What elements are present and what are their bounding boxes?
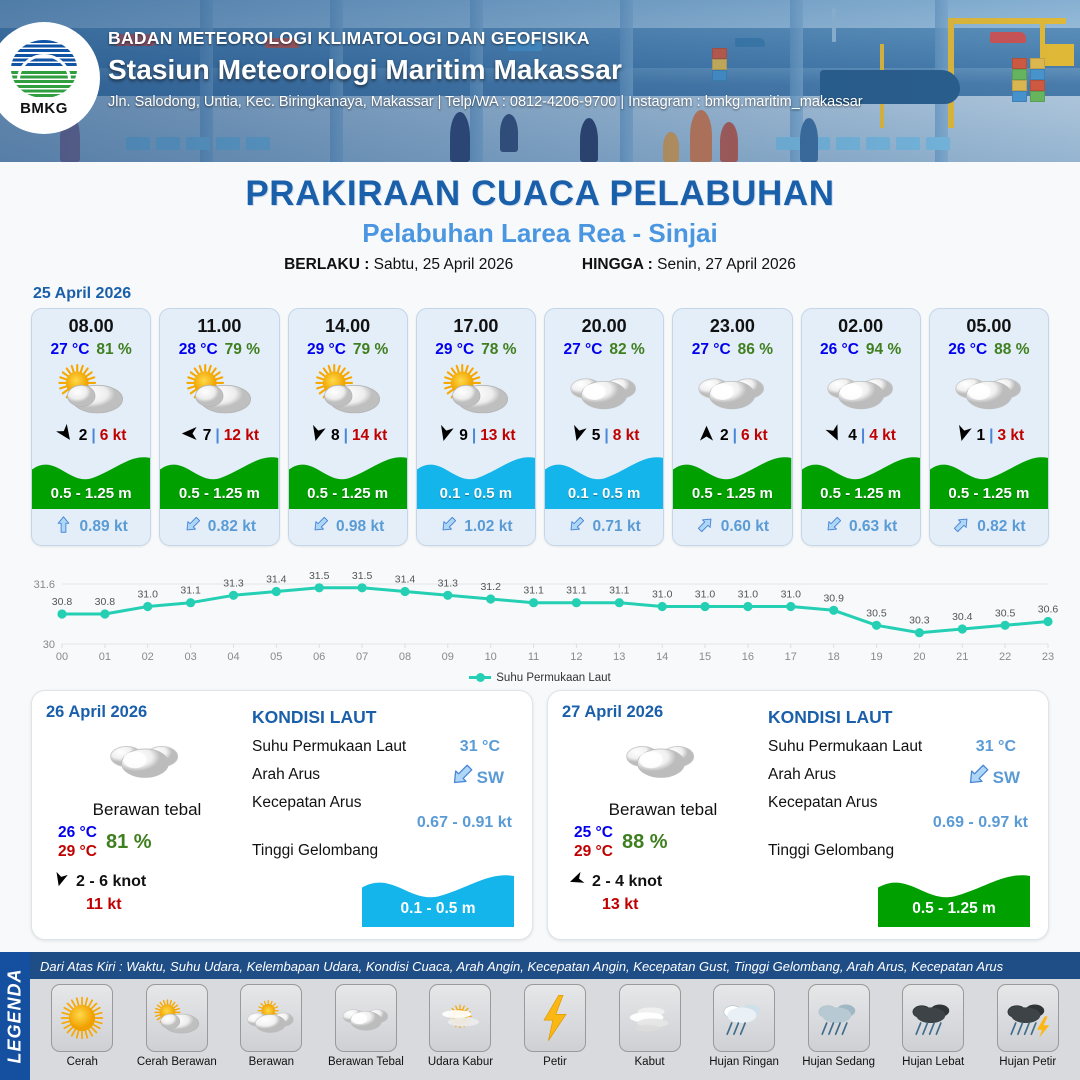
svg-text:03: 03 <box>184 651 196 663</box>
station-name: Stasiun Meteorologi Maritim Makassar <box>108 54 863 86</box>
validity-line: BERLAKU : Sabtu, 25 April 2026 HINGGA : … <box>0 256 1080 274</box>
hourly-card: 02.00 26 °C 94 % 4 | 4 kt 0.5 - 1.25 m 0… <box>801 308 921 546</box>
svg-text:31.5: 31.5 <box>309 570 330 582</box>
current-dir-value: SW <box>993 768 1020 788</box>
svg-text:05: 05 <box>270 651 282 663</box>
hourly-card: 14.00 29 °C 79 % 8 | 14 kt 0.5 - 1.25 m … <box>288 308 408 546</box>
hourly-card: 11.00 28 °C 79 % 7 | 12 kt 0.5 - 1.25 m … <box>159 308 279 546</box>
contact-address: Jln. Salodong, Untia, Kec. Biringkanaya,… <box>108 94 863 110</box>
current-speed: 0.63 kt <box>849 518 897 536</box>
current-speed: 0.89 kt <box>79 518 127 536</box>
legend-bar: LEGENDA Dari Atas Kiri : Waktu, Suhu Uda… <box>0 952 1080 1080</box>
svg-text:08: 08 <box>399 651 411 663</box>
gust-speed: 14 kt <box>352 427 387 445</box>
wind-direction-value: 8 <box>331 427 340 445</box>
wave-height-band: 0.5 - 1.25 m <box>802 451 920 509</box>
svg-text:31.0: 31.0 <box>781 589 802 601</box>
hourly-date-label: 25 April 2026 <box>33 285 1080 303</box>
sea-conditions: KONDISI LAUT Suhu Permukaan Laut 31 °C A… <box>244 703 518 929</box>
current-speed: 0.82 kt <box>977 518 1025 536</box>
current-speed: 1.02 kt <box>464 518 512 536</box>
cloud-icon <box>802 361 920 421</box>
card-time: 02.00 <box>802 309 920 337</box>
wind-separator: | <box>861 427 865 445</box>
card-humidity: 79 % <box>225 341 260 359</box>
legend-item-label: Cerah <box>67 1056 98 1068</box>
card-temperature: 27 °C <box>50 341 89 359</box>
svg-text:31.3: 31.3 <box>223 577 244 589</box>
wind-separator: | <box>989 427 993 445</box>
sea-conditions: KONDISI LAUT Suhu Permukaan Laut 31 °C A… <box>760 703 1034 929</box>
current-speed-label: Kecepatan Arus <box>768 794 877 811</box>
svg-text:13: 13 <box>613 651 625 663</box>
svg-text:30.6: 30.6 <box>1038 604 1059 616</box>
daily-wind: 2 - 4 knot <box>562 871 760 893</box>
sea-conditions-title: KONDISI LAUT <box>768 707 1034 728</box>
daily-temp-min: 25 °C <box>574 823 613 842</box>
card-temp-hum: 29 °C 78 % <box>417 341 535 359</box>
daily-humidity: 88 % <box>622 831 668 854</box>
legend-item: Berawan Tebal <box>320 984 413 1078</box>
wave-height-band: 0.1 - 0.5 m <box>417 451 535 509</box>
card-current-row: 0.98 kt <box>289 509 407 545</box>
svg-text:02: 02 <box>142 651 154 663</box>
header-text-block: BADAN METEOROLOGI KLIMATOLOGI DAN GEOFIS… <box>108 28 863 110</box>
card-wind-row: 2 | 6 kt <box>32 421 150 451</box>
current-direction-arrow-icon <box>952 515 971 539</box>
sun-clouds-icon <box>240 984 302 1052</box>
daily-wave-value: 0.5 - 1.25 m <box>878 900 1030 918</box>
card-time: 17.00 <box>417 309 535 337</box>
legend-item-label: Udara Kabur <box>428 1056 493 1068</box>
daily-wind-value: 2 - 4 knot <box>592 873 662 891</box>
gust-speed: 8 kt <box>613 427 640 445</box>
legend-item-label: Hujan Petir <box>999 1056 1056 1068</box>
svg-text:11: 11 <box>528 651 539 663</box>
daily-wave-band: 0.1 - 0.5 m <box>362 869 514 927</box>
svg-text:31.2: 31.2 <box>480 581 501 593</box>
card-temp-hum: 27 °C 82 % <box>545 341 663 359</box>
svg-text:16: 16 <box>742 651 754 663</box>
wind-direction-arrow-icon <box>697 424 716 448</box>
wind-separator: | <box>733 427 737 445</box>
wave-height-band: 0.5 - 1.25 m <box>930 451 1048 509</box>
daily-gust: 11 kt <box>46 896 244 914</box>
current-speed-row: Kecepatan Arus <box>768 794 1034 812</box>
sst-chart: 31.63030.80030.80131.00231.10331.30431.4… <box>18 558 1062 670</box>
daily-humidity: 81 % <box>106 831 152 854</box>
legend-item-label: Hujan Ringan <box>709 1056 779 1068</box>
card-temperature: 29 °C <box>435 341 474 359</box>
svg-text:31.1: 31.1 <box>566 585 587 597</box>
sun-cloud-icon <box>32 361 150 421</box>
card-wind-row: 5 | 8 kt <box>545 421 663 451</box>
svg-text:31.3: 31.3 <box>438 577 459 589</box>
gust-speed: 13 kt <box>480 427 515 445</box>
chart-legend: Suhu Permukaan Laut <box>0 672 1080 684</box>
legend-item: Udara Kabur <box>414 984 507 1078</box>
daily-summary: 27 April 2026 Berawan tebal 25 °C 29 °C … <box>562 703 760 929</box>
bmkg-globe-icon <box>11 40 77 98</box>
sun-cloud-icon <box>289 361 407 421</box>
wave-height-value: 0.5 - 1.25 m <box>160 485 278 502</box>
current-direction-arrow-icon <box>965 762 991 793</box>
page-subtitle: Pelabuhan Larea Rea - Sinjai <box>0 218 1080 249</box>
legend-item-label: Berawan Tebal <box>328 1056 404 1068</box>
current-speed-label: Kecepatan Arus <box>252 794 361 811</box>
card-temperature: 28 °C <box>179 341 218 359</box>
svg-text:31.0: 31.0 <box>137 589 158 601</box>
current-dir-label: Arah Arus <box>252 766 320 783</box>
wind-direction-arrow-icon <box>308 424 327 448</box>
daily-wave-value: 0.1 - 0.5 m <box>362 900 514 918</box>
card-wind-row: 1 | 3 kt <box>930 421 1048 451</box>
fog-icon <box>619 984 681 1052</box>
daily-temp-max: 29 °C <box>58 842 97 861</box>
wave-height-value: 0.1 - 0.5 m <box>417 485 535 502</box>
current-direction-arrow-icon <box>696 515 715 539</box>
current-direction-arrow-icon <box>439 515 458 539</box>
wind-direction-value: 2 <box>720 427 729 445</box>
card-temperature: 27 °C <box>692 341 731 359</box>
legend-item: Cerah <box>36 984 129 1078</box>
sst-label: Suhu Permukaan Laut <box>252 738 406 755</box>
card-temp-hum: 27 °C 86 % <box>673 341 791 359</box>
legend-items: Cerah Cerah Berawan Berawan Berawan Teba… <box>30 979 1080 1080</box>
legend-item: Hujan Ringan <box>698 984 791 1078</box>
bmkg-logo-text: BMKG <box>20 100 68 117</box>
thunderstorm-icon <box>997 984 1059 1052</box>
svg-text:31.0: 31.0 <box>695 589 716 601</box>
current-dir-row: Arah Arus SW <box>768 766 1034 784</box>
sst-row: Suhu Permukaan Laut 31 °C <box>252 738 518 756</box>
wave-height-band: 0.1 - 0.5 m <box>545 451 663 509</box>
card-current-row: 0.71 kt <box>545 509 663 545</box>
current-direction-arrow-icon <box>449 762 475 793</box>
daily-condition: Berawan tebal <box>46 800 244 820</box>
wave-height-band: 0.5 - 1.25 m <box>673 451 791 509</box>
chart-legend-label: Suhu Permukaan Laut <box>496 672 610 684</box>
daily-condition: Berawan tebal <box>562 800 760 820</box>
sun-icon <box>51 984 113 1052</box>
wave-height-value: 0.5 - 1.25 m <box>930 485 1048 502</box>
svg-text:23: 23 <box>1042 651 1054 663</box>
valid-from-value: Sabtu, 25 April 2026 <box>374 256 514 273</box>
hourly-card: 17.00 29 °C 78 % 9 | 13 kt 0.1 - 0.5 m 1… <box>416 308 536 546</box>
wave-label: Tinggi Gelombang <box>768 842 894 859</box>
hourly-card: 05.00 26 °C 88 % 1 | 3 kt 0.5 - 1.25 m 0… <box>929 308 1049 546</box>
legend-item: Hujan Lebat <box>887 984 980 1078</box>
legend-item-label: Cerah Berawan <box>137 1056 217 1068</box>
legend-item-label: Kabut <box>635 1056 665 1068</box>
current-direction-arrow-icon <box>54 515 73 539</box>
svg-text:30.3: 30.3 <box>909 615 930 627</box>
svg-text:31.4: 31.4 <box>395 574 416 586</box>
legend-item: Kabut <box>603 984 696 1078</box>
daily-summary: 26 April 2026 Berawan tebal 26 °C 29 °C … <box>46 703 244 929</box>
svg-text:31.0: 31.0 <box>652 589 673 601</box>
wind-direction-arrow-icon <box>569 424 588 448</box>
sea-conditions-title: KONDISI LAUT <box>252 707 518 728</box>
sun-cloud-icon <box>160 361 278 421</box>
card-current-row: 0.89 kt <box>32 509 150 545</box>
card-time: 20.00 <box>545 309 663 337</box>
svg-text:15: 15 <box>699 651 711 663</box>
card-temperature: 29 °C <box>307 341 346 359</box>
card-time: 23.00 <box>673 309 791 337</box>
daily-temp-max: 29 °C <box>574 842 613 861</box>
lightning-icon <box>524 984 586 1052</box>
current-direction-arrow-icon <box>824 515 843 539</box>
legend-item-label: Hujan Lebat <box>902 1056 964 1068</box>
wave-height-value: 0.5 - 1.25 m <box>802 485 920 502</box>
wave-row: Tinggi Gelombang <box>252 842 518 860</box>
card-wind-row: 9 | 13 kt <box>417 421 535 451</box>
wave-height-value: 0.5 - 1.25 m <box>289 485 407 502</box>
valid-until-label: HINGGA : <box>582 256 653 273</box>
card-humidity: 81 % <box>96 341 131 359</box>
svg-text:04: 04 <box>227 651 239 663</box>
card-current-row: 0.82 kt <box>160 509 278 545</box>
cloud-icon <box>562 728 760 790</box>
wind-direction-arrow-icon <box>436 424 455 448</box>
legend-item: Cerah Berawan <box>131 984 224 1078</box>
card-humidity: 78 % <box>481 341 516 359</box>
cloud-icon <box>46 728 244 790</box>
card-humidity: 94 % <box>866 341 901 359</box>
legend-item: Hujan Sedang <box>792 984 885 1078</box>
wave-height-band: 0.5 - 1.25 m <box>160 451 278 509</box>
wind-direction-arrow-icon <box>954 424 973 448</box>
wind-direction-arrow-icon <box>52 871 69 893</box>
legend-note: Dari Atas Kiri : Waktu, Suhu Udara, Kele… <box>30 952 1080 979</box>
wind-direction-arrow-icon <box>568 871 585 893</box>
wave-height-value: 0.5 - 1.25 m <box>673 485 791 502</box>
cloud-icon <box>673 361 791 421</box>
svg-text:30.8: 30.8 <box>52 596 73 608</box>
current-direction-arrow-icon <box>311 515 330 539</box>
sst-chart-svg: 31.63030.80030.80131.00231.10331.30431.4… <box>18 558 1062 670</box>
current-speed: 0.60 kt <box>721 518 769 536</box>
legend-item: Berawan <box>225 984 318 1078</box>
gust-speed: 3 kt <box>998 427 1025 445</box>
hourly-card: 20.00 27 °C 82 % 5 | 8 kt 0.1 - 0.5 m 0.… <box>544 308 664 546</box>
wind-direction-arrow-icon <box>825 424 844 448</box>
card-humidity: 82 % <box>609 341 644 359</box>
daily-forecast-panels: 26 April 2026 Berawan tebal 26 °C 29 °C … <box>0 684 1080 940</box>
daily-date: 27 April 2026 <box>562 703 760 722</box>
card-wind-row: 4 | 4 kt <box>802 421 920 451</box>
card-temp-hum: 26 °C 94 % <box>802 341 920 359</box>
wind-separator: | <box>604 427 608 445</box>
svg-text:31.0: 31.0 <box>738 589 759 601</box>
wave-height-band: 0.5 - 1.25 m <box>289 451 407 509</box>
svg-text:31.1: 31.1 <box>609 585 630 597</box>
gust-speed: 6 kt <box>100 427 127 445</box>
svg-text:20: 20 <box>913 651 925 663</box>
clouds-icon <box>335 984 397 1052</box>
wind-direction-value: 5 <box>592 427 601 445</box>
gust-speed: 4 kt <box>869 427 896 445</box>
daily-panel: 26 April 2026 Berawan tebal 26 °C 29 °C … <box>31 690 533 940</box>
svg-text:01: 01 <box>99 651 111 663</box>
current-speed: 0.82 kt <box>208 518 256 536</box>
card-humidity: 86 % <box>738 341 773 359</box>
title-block: PRAKIRAAN CUACA PELABUHAN Pelabuhan Lare… <box>0 162 1080 274</box>
svg-text:06: 06 <box>313 651 325 663</box>
svg-text:22: 22 <box>999 651 1011 663</box>
wave-label: Tinggi Gelombang <box>252 842 378 859</box>
svg-text:31.6: 31.6 <box>34 579 55 591</box>
legend-item-label: Petir <box>543 1056 567 1068</box>
svg-text:30.5: 30.5 <box>866 607 887 619</box>
svg-text:14: 14 <box>656 651 668 663</box>
svg-text:09: 09 <box>442 651 454 663</box>
card-humidity: 79 % <box>353 341 388 359</box>
current-speed-row: Kecepatan Arus <box>252 794 518 812</box>
card-wind-row: 2 | 6 kt <box>673 421 791 451</box>
daily-date: 26 April 2026 <box>46 703 244 722</box>
card-current-row: 0.60 kt <box>673 509 791 545</box>
card-current-row: 0.82 kt <box>930 509 1048 545</box>
svg-text:30: 30 <box>43 639 55 651</box>
wave-height-value: 0.5 - 1.25 m <box>32 485 150 502</box>
daily-gust: 13 kt <box>562 896 760 914</box>
svg-text:12: 12 <box>570 651 582 663</box>
current-dir-value: SW <box>477 768 504 788</box>
valid-until-value: Senin, 27 April 2026 <box>657 256 796 273</box>
wind-separator: | <box>344 427 348 445</box>
wind-separator: | <box>215 427 219 445</box>
sst-value: 31 °C <box>460 738 500 756</box>
svg-text:10: 10 <box>485 651 497 663</box>
svg-text:19: 19 <box>870 651 882 663</box>
current-direction-arrow-icon <box>567 515 586 539</box>
wave-height-band: 0.5 - 1.25 m <box>32 451 150 509</box>
gust-speed: 12 kt <box>224 427 259 445</box>
current-speed-value: 0.67 - 0.91 kt <box>252 814 518 832</box>
hourly-card: 08.00 27 °C 81 % 2 | 6 kt 0.5 - 1.25 m 0… <box>31 308 151 546</box>
wave-height-value: 0.1 - 0.5 m <box>545 485 663 502</box>
wind-direction-value: 7 <box>203 427 212 445</box>
svg-text:31.5: 31.5 <box>352 570 373 582</box>
legend-main: Dari Atas Kiri : Waktu, Suhu Udara, Kele… <box>30 952 1080 1080</box>
daily-temp-min: 26 °C <box>58 823 97 842</box>
card-humidity: 88 % <box>994 341 1029 359</box>
card-wind-row: 7 | 12 kt <box>160 421 278 451</box>
svg-text:00: 00 <box>56 651 68 663</box>
sst-label: Suhu Permukaan Laut <box>768 738 922 755</box>
daily-temps: 26 °C 29 °C 81 % <box>46 823 244 862</box>
legend-item-label: Hujan Sedang <box>802 1056 875 1068</box>
card-wind-row: 8 | 14 kt <box>289 421 407 451</box>
wind-direction-arrow-icon <box>56 424 75 448</box>
sun-cloud-icon <box>417 361 535 421</box>
legend-side-label: LEGENDA <box>0 952 30 1080</box>
wind-direction-value: 2 <box>79 427 88 445</box>
daily-panel: 27 April 2026 Berawan tebal 25 °C 29 °C … <box>547 690 1049 940</box>
card-time: 14.00 <box>289 309 407 337</box>
page-title: PRAKIRAAN CUACA PELABUHAN <box>0 174 1080 214</box>
card-time: 11.00 <box>160 309 278 337</box>
sst-value: 31 °C <box>976 738 1016 756</box>
page-header: BMKG BADAN METEOROLOGI KLIMATOLOGI DAN G… <box>0 0 1080 162</box>
light-rain-icon <box>713 984 775 1052</box>
haze-icon <box>429 984 491 1052</box>
card-temp-hum: 26 °C 88 % <box>930 341 1048 359</box>
card-temp-hum: 29 °C 79 % <box>289 341 407 359</box>
heavy-rain-icon <box>902 984 964 1052</box>
card-temp-hum: 28 °C 79 % <box>160 341 278 359</box>
wind-separator: | <box>472 427 476 445</box>
wave-row: Tinggi Gelombang <box>768 842 1034 860</box>
wind-direction-arrow-icon <box>180 424 199 448</box>
svg-text:07: 07 <box>356 651 368 663</box>
card-temp-hum: 27 °C 81 % <box>32 341 150 359</box>
organization-name: BADAN METEOROLOGI KLIMATOLOGI DAN GEOFIS… <box>108 28 863 49</box>
card-time: 05.00 <box>930 309 1048 337</box>
svg-text:17: 17 <box>785 651 797 663</box>
sun-cloud-icon <box>146 984 208 1052</box>
sst-row: Suhu Permukaan Laut 31 °C <box>768 738 1034 756</box>
daily-wave-band: 0.5 - 1.25 m <box>878 869 1030 927</box>
legend-item: Petir <box>509 984 602 1078</box>
svg-text:31.1: 31.1 <box>180 585 201 597</box>
svg-text:30.8: 30.8 <box>95 596 116 608</box>
hourly-forecast-row: 08.00 27 °C 81 % 2 | 6 kt 0.5 - 1.25 m 0… <box>0 308 1080 546</box>
daily-wind-value: 2 - 6 knot <box>76 873 146 891</box>
svg-text:21: 21 <box>956 651 968 663</box>
card-temperature: 26 °C <box>948 341 987 359</box>
moderate-rain-icon <box>808 984 870 1052</box>
wind-direction-value: 4 <box>848 427 857 445</box>
chart-legend-marker <box>469 676 491 679</box>
wind-direction-value: 9 <box>459 427 468 445</box>
wind-separator: | <box>91 427 95 445</box>
card-current-row: 0.63 kt <box>802 509 920 545</box>
wind-direction-value: 1 <box>977 427 986 445</box>
current-speed: 0.98 kt <box>336 518 384 536</box>
svg-text:18: 18 <box>828 651 840 663</box>
cloud-icon <box>545 361 663 421</box>
current-speed-value: 0.69 - 0.97 kt <box>768 814 1034 832</box>
cloud-icon <box>930 361 1048 421</box>
daily-wind: 2 - 6 knot <box>46 871 244 893</box>
svg-text:31.4: 31.4 <box>266 574 287 586</box>
card-time: 08.00 <box>32 309 150 337</box>
card-temperature: 26 °C <box>820 341 859 359</box>
svg-text:31.1: 31.1 <box>523 585 544 597</box>
svg-text:30.4: 30.4 <box>952 611 973 623</box>
current-dir-row: Arah Arus SW <box>252 766 518 784</box>
valid-from-label: BERLAKU : <box>284 256 369 273</box>
current-speed: 0.71 kt <box>592 518 640 536</box>
card-current-row: 1.02 kt <box>417 509 535 545</box>
card-temperature: 27 °C <box>563 341 602 359</box>
hourly-card: 23.00 27 °C 86 % 2 | 6 kt 0.5 - 1.25 m 0… <box>672 308 792 546</box>
daily-temps: 25 °C 29 °C 88 % <box>562 823 760 862</box>
current-dir-label: Arah Arus <box>768 766 836 783</box>
svg-text:30.9: 30.9 <box>823 592 844 604</box>
legend-item: Hujan Petir <box>981 984 1074 1078</box>
gust-speed: 6 kt <box>741 427 768 445</box>
current-direction-arrow-icon <box>183 515 202 539</box>
legend-item-label: Berawan <box>249 1056 294 1068</box>
svg-text:30.5: 30.5 <box>995 607 1016 619</box>
